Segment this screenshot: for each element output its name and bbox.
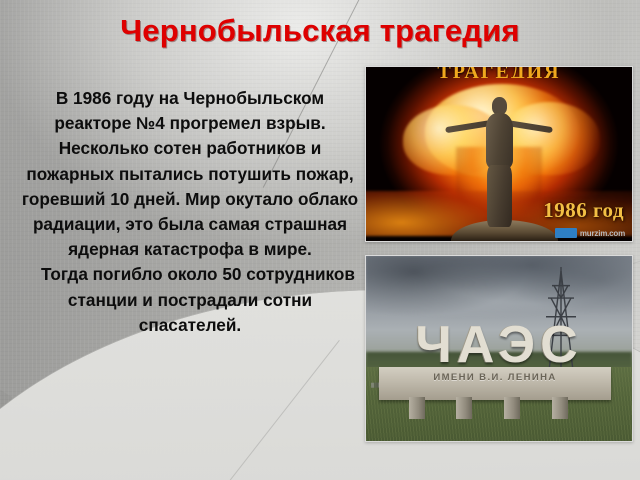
sign-support-posts xyxy=(393,397,585,419)
sign-post xyxy=(456,397,472,419)
watermark-badge-icon xyxy=(555,228,577,238)
statue-torso xyxy=(486,113,513,169)
sign-photo-scene: ЧАЭС ИМЕНИ В.И. ЛЕНИНА xyxy=(366,256,632,441)
statue-legs xyxy=(487,165,512,227)
explosion-photo-year-label: 1986 год xyxy=(543,198,624,223)
sign-post xyxy=(552,397,568,419)
statue-arm-left xyxy=(445,120,491,133)
body-paragraph-2: Тогда погибло около 50 сотрудников станц… xyxy=(16,262,364,338)
sign-post xyxy=(409,397,425,419)
sign-post xyxy=(504,397,520,419)
explosion-photo: ТРАГЕДИЯ 1986 год murzim.com xyxy=(365,66,633,242)
explosion-photo-caption-top: ТРАГЕДИЯ xyxy=(366,66,632,78)
body-paragraph-1: В 1986 году на Чернобыльском реакторе №4… xyxy=(22,88,358,259)
slide-title: Чернобыльская трагедия xyxy=(0,13,640,49)
statue-silhouette xyxy=(443,97,555,229)
explosion-photo-watermark: murzim.com xyxy=(555,228,625,238)
sign-main-letters: ЧАЭС xyxy=(366,319,632,371)
sign-subtitle-text: ИМЕНИ В.И. ЛЕНИНА xyxy=(379,372,610,383)
slide-body-text: В 1986 году на Чернобыльском реакторе №4… xyxy=(16,86,364,338)
watermark-text: murzim.com xyxy=(580,229,625,238)
statue-arm-right xyxy=(507,120,553,133)
chernobyl-sign-photo: ЧАЭС ИМЕНИ В.И. ЛЕНИНА xyxy=(365,255,633,442)
presentation-slide: Чернобыльская трагедия В 1986 году на Че… xyxy=(0,0,640,480)
